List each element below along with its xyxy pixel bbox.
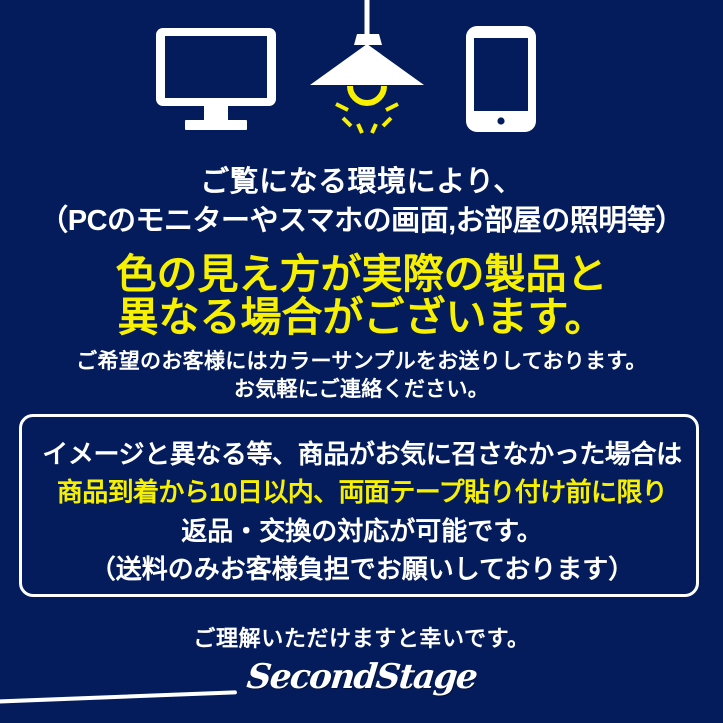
- return-policy-line-3: 返品・交換の対応が可能です。: [22, 511, 702, 548]
- subnote-line-1: ご希望のお客様にはカラーサンプルをお送りしております。: [0, 345, 723, 375]
- brand-logo-underline: [0, 690, 237, 703]
- return-policy-line-1: イメージと異なる等、商品がお気に召さなかった場合は: [22, 434, 702, 471]
- brand-logo: SecondStage: [0, 660, 723, 694]
- smartphone-icon: [466, 26, 536, 132]
- return-policy-box: イメージと異なる等、商品がお気に召さなかった場合は 商品到着から10日以内、両面…: [19, 414, 699, 597]
- return-policy-line-4: （送料のみお客様負担でお願いしております）: [22, 549, 702, 586]
- brand-logo-text: SecondStage: [245, 660, 478, 694]
- pendant-lamp-icon: [300, 0, 436, 135]
- intro-line-1: ご覧になる環境により、: [0, 158, 723, 200]
- closing-line: ご理解いただけますと幸いです。: [0, 621, 723, 653]
- subnote-line-2: お気軽にご連絡ください。: [0, 373, 723, 403]
- return-policy-line-2: 商品到着から10日以内、両面テープ貼り付け前に限り: [22, 472, 702, 509]
- intro-line-2: （PCのモニターやスマホの画面,お部屋の照明等）: [0, 197, 723, 239]
- notice-page: ご覧になる環境により、 （PCのモニターやスマホの画面,お部屋の照明等） 色の見…: [0, 0, 723, 723]
- device-icon-row: [0, 0, 723, 145]
- headline-line-2: 異なる場合がございます。: [0, 283, 723, 343]
- monitor-icon: [156, 28, 276, 130]
